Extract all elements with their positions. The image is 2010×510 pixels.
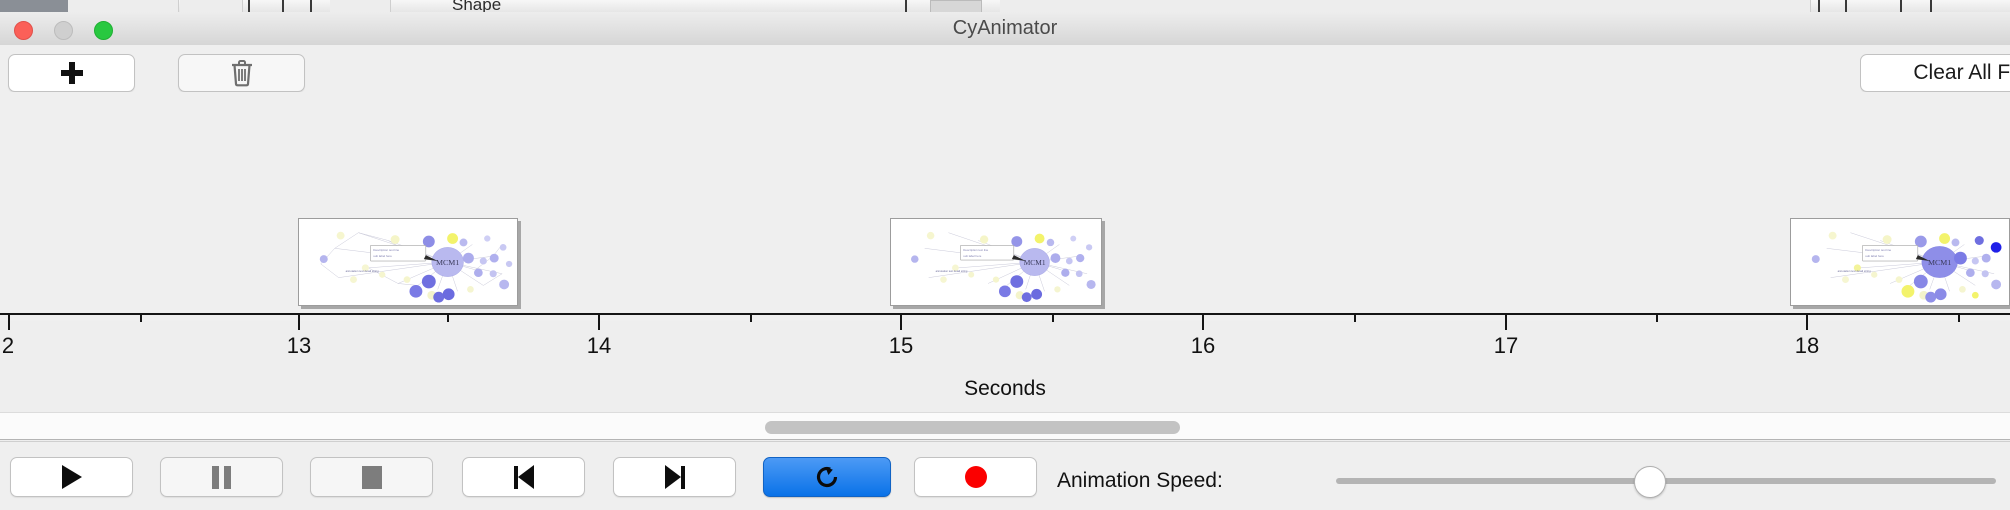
cyanimator-window: Shape CyAnimator Clear All Frames: [0, 0, 2010, 510]
background-active-tab: [0, 0, 68, 12]
background-tick: [1845, 0, 1847, 12]
playback-control-bar: Animation Speed:: [0, 441, 2010, 510]
axis-tick-minor: [1958, 315, 1960, 322]
background-tick: [1818, 0, 1820, 12]
axis-tick: [1505, 315, 1507, 330]
loop-button[interactable]: [763, 457, 891, 497]
axis-tick-label: 14: [587, 333, 611, 359]
axis-tick: [1806, 315, 1808, 330]
network-thumbnail: Description text line sub label here ann…: [1791, 219, 2009, 305]
svg-text:annotation text detail string: annotation text detail string: [1838, 269, 1872, 273]
axis-tick: [598, 315, 600, 330]
axis-tick: [1202, 315, 1204, 330]
axis-tick-minor: [750, 315, 752, 322]
record-icon: [965, 466, 987, 488]
animation-speed-slider-track[interactable]: [1336, 478, 1996, 484]
axis-tick: [298, 315, 300, 330]
stop-icon: [362, 466, 382, 489]
background-window-label: Shape: [452, 0, 501, 12]
network-thumbnail: Description text line sub label here ann…: [891, 219, 1101, 305]
svg-text:Description text line: Description text line: [963, 248, 988, 252]
play-button[interactable]: [10, 457, 133, 497]
svg-text:annotation text detail string: annotation text detail string: [346, 269, 380, 273]
svg-text:sub label here: sub label here: [373, 254, 392, 258]
axis-tick: [900, 315, 902, 330]
animation-speed-label: Animation Speed:: [1057, 469, 1223, 493]
title-bar: CyAnimator: [0, 12, 2010, 46]
previous-frame-button[interactable]: [462, 457, 585, 497]
play-icon: [62, 465, 82, 489]
axis-tick-minor: [140, 315, 142, 322]
axis-title: Seconds: [0, 377, 2010, 401]
background-segment: [180, 0, 243, 12]
page-title: CyAnimator: [0, 12, 2010, 45]
axis-tick-minor: [1052, 315, 1054, 322]
timeline-axis: [0, 313, 2010, 315]
delete-frame-button[interactable]: [178, 54, 305, 92]
axis-tick-label: 17: [1494, 333, 1518, 359]
timeline-frame-thumbnail[interactable]: Description text line sub label here ann…: [298, 218, 518, 306]
pause-icon: [212, 466, 231, 489]
add-frame-button[interactable]: [8, 54, 135, 92]
background-tick: [248, 0, 250, 12]
trash-icon: [230, 59, 254, 87]
animation-speed-slider-thumb[interactable]: [1634, 466, 1666, 498]
svg-text:MCM1: MCM1: [436, 258, 459, 267]
timeline-frame-thumbnail[interactable]: Description text line sub label here ann…: [890, 218, 1102, 306]
svg-text:Description text line: Description text line: [1865, 248, 1891, 252]
network-thumbnail: Description text line sub label here ann…: [299, 219, 517, 305]
background-tick: [1930, 0, 1932, 12]
background-tick: [282, 0, 284, 12]
background-segment: [68, 0, 179, 12]
timeline-scrollbar-thumb[interactable]: [765, 421, 1180, 434]
background-tick: [310, 0, 312, 12]
clear-all-frames-clip: Clear All Frames: [1860, 54, 2010, 92]
toolbar: Clear All Frames: [0, 45, 2010, 93]
background-box: [930, 0, 982, 12]
svg-text:sub label here: sub label here: [1865, 254, 1884, 258]
svg-text:MCM1: MCM1: [1024, 258, 1046, 267]
axis-tick-label: 13: [287, 333, 311, 359]
axis-tick: [8, 315, 10, 330]
axis-tick-label: 16: [1191, 333, 1215, 359]
axis-tick-minor: [447, 315, 449, 322]
svg-text:sub label here: sub label here: [963, 254, 981, 258]
background-segment: [1000, 0, 1811, 12]
pause-button[interactable]: [160, 457, 283, 497]
stop-button[interactable]: [310, 457, 433, 497]
svg-text:Description text line: Description text line: [373, 248, 399, 252]
svg-text:MCM1: MCM1: [1928, 258, 1951, 267]
svg-text:annotation text detail string: annotation text detail string: [936, 269, 968, 273]
background-tick: [905, 0, 907, 12]
axis-tick-label: 2: [2, 333, 14, 359]
axis-tick-label: 15: [889, 333, 913, 359]
axis-tick-label: 18: [1795, 333, 1819, 359]
background-window-strip: Shape: [0, 0, 2010, 12]
next-frame-button[interactable]: [613, 457, 736, 497]
background-segment: [330, 0, 391, 12]
loop-icon: [814, 464, 840, 490]
skip-next-icon: [665, 465, 685, 489]
clear-all-frames-button[interactable]: Clear All Frames: [1860, 54, 2010, 92]
background-tick: [1900, 0, 1902, 12]
plus-icon: [61, 62, 83, 84]
axis-tick-minor: [1354, 315, 1356, 322]
axis-tick-minor: [1656, 315, 1658, 322]
skip-previous-icon: [514, 465, 534, 489]
record-button[interactable]: [914, 457, 1037, 497]
timeline-frame-thumbnail[interactable]: Description text line sub label here ann…: [1790, 218, 2010, 306]
